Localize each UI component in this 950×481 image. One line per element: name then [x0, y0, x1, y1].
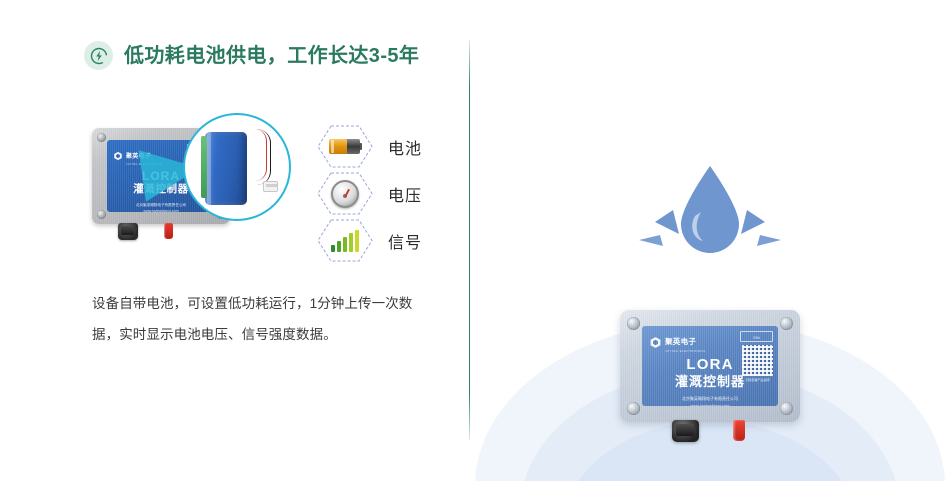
hex-frame	[316, 218, 374, 263]
battery-wire-red	[243, 129, 267, 181]
hex-frame	[316, 124, 374, 169]
device-website: www.juyingdianzi.com	[649, 402, 771, 406]
signal-bar-2	[337, 241, 341, 252]
brand-row: 聚英电子 JUYING ELECTRONICS	[649, 331, 771, 353]
signal-bar-1	[331, 245, 335, 252]
feature-label-battery: 电池	[388, 135, 422, 159]
screw-icon	[780, 317, 793, 330]
screw-icon	[627, 402, 640, 415]
waterproof-connector	[118, 223, 138, 240]
left-feature-panel: 低功耗电池供电，工作长达3-5年 聚英电子 JU	[0, 0, 469, 481]
feature-badge-signal: 信号	[316, 218, 422, 263]
left-panel-header: 低功耗电池供电，工作长达3-5年	[84, 41, 419, 70]
feature-badge-voltage: 电压	[316, 171, 422, 216]
device-model-line1: LORA	[649, 357, 771, 372]
feature-label-signal: 信号	[388, 229, 422, 253]
red-led	[164, 223, 173, 239]
device-model-line2: 灌溉控制器	[649, 375, 771, 388]
screw-icon	[627, 317, 640, 330]
feature-badge-battery: 电池	[316, 124, 422, 169]
poster-canvas: 低功耗电池供电，工作长达3-5年 聚英电子 JU	[0, 0, 950, 481]
qr-caption: 扫码查看产品说明	[742, 378, 773, 382]
feature-badge-list: 电池 电压	[316, 124, 422, 265]
battery-connector-plug	[263, 181, 278, 192]
left-product-image: 聚英电子 JUYING ELECTRONICS LORA 灌溉控制器 北京聚英翱…	[92, 128, 242, 248]
battery-icon	[316, 124, 374, 169]
brand-logo-icon	[113, 151, 123, 161]
water-drop-icon	[635, 160, 785, 275]
red-led	[733, 420, 745, 441]
left-panel-title: 低功耗电池供电，工作长达3-5年	[124, 46, 419, 66]
serial-field: S/N	[740, 331, 773, 342]
lithium-battery-cell	[205, 132, 247, 205]
signal-bars-icon	[316, 218, 374, 263]
gauge-icon	[316, 171, 374, 216]
device-faceplate-label: 聚英电子 JUYING ELECTRONICS LORA 灌溉控制器 北京聚英翱…	[642, 326, 778, 406]
controller-enclosure: 聚英电子 JUYING ELECTRONICS LORA 灌溉控制器 北京聚英翱…	[620, 310, 800, 422]
right-product-image: 聚英电子 JUYING ELECTRONICS LORA 灌溉控制器 北京聚英翱…	[620, 310, 800, 445]
brand-subtitle: JUYING ELECTRONICS	[665, 349, 705, 353]
signal-bar-3	[343, 237, 347, 252]
left-panel-body-text: 设备自带电池，可设置低功耗运行，1分钟上传一次数据，实时显示电池电压、信号强度数…	[92, 288, 432, 350]
brand-logo-icon	[649, 336, 662, 349]
screw-icon	[780, 402, 793, 415]
signal-bar-5	[355, 230, 359, 252]
hex-frame	[316, 171, 374, 216]
battery-magnifier-inset	[183, 113, 291, 221]
feature-label-voltage: 电压	[388, 182, 422, 206]
brand-name: 聚英电子	[665, 337, 696, 346]
device-company: 北京聚英翱翔电子有限责任公司	[113, 202, 209, 208]
qr-code-icon	[742, 345, 773, 376]
right-panel-illustration: 聚英电子 JUYING ELECTRONICS LORA 灌溉控制器 北京聚英翱…	[470, 150, 950, 481]
device-website: www.juyingdianzi.com	[113, 208, 209, 212]
waterproof-connector	[672, 420, 699, 442]
signal-bar-4	[349, 233, 353, 252]
screw-icon	[97, 210, 106, 219]
power-bolt-icon	[84, 41, 113, 70]
screw-icon	[97, 133, 106, 142]
device-company: 北京聚英翱翔电子有限责任公司	[649, 395, 771, 402]
